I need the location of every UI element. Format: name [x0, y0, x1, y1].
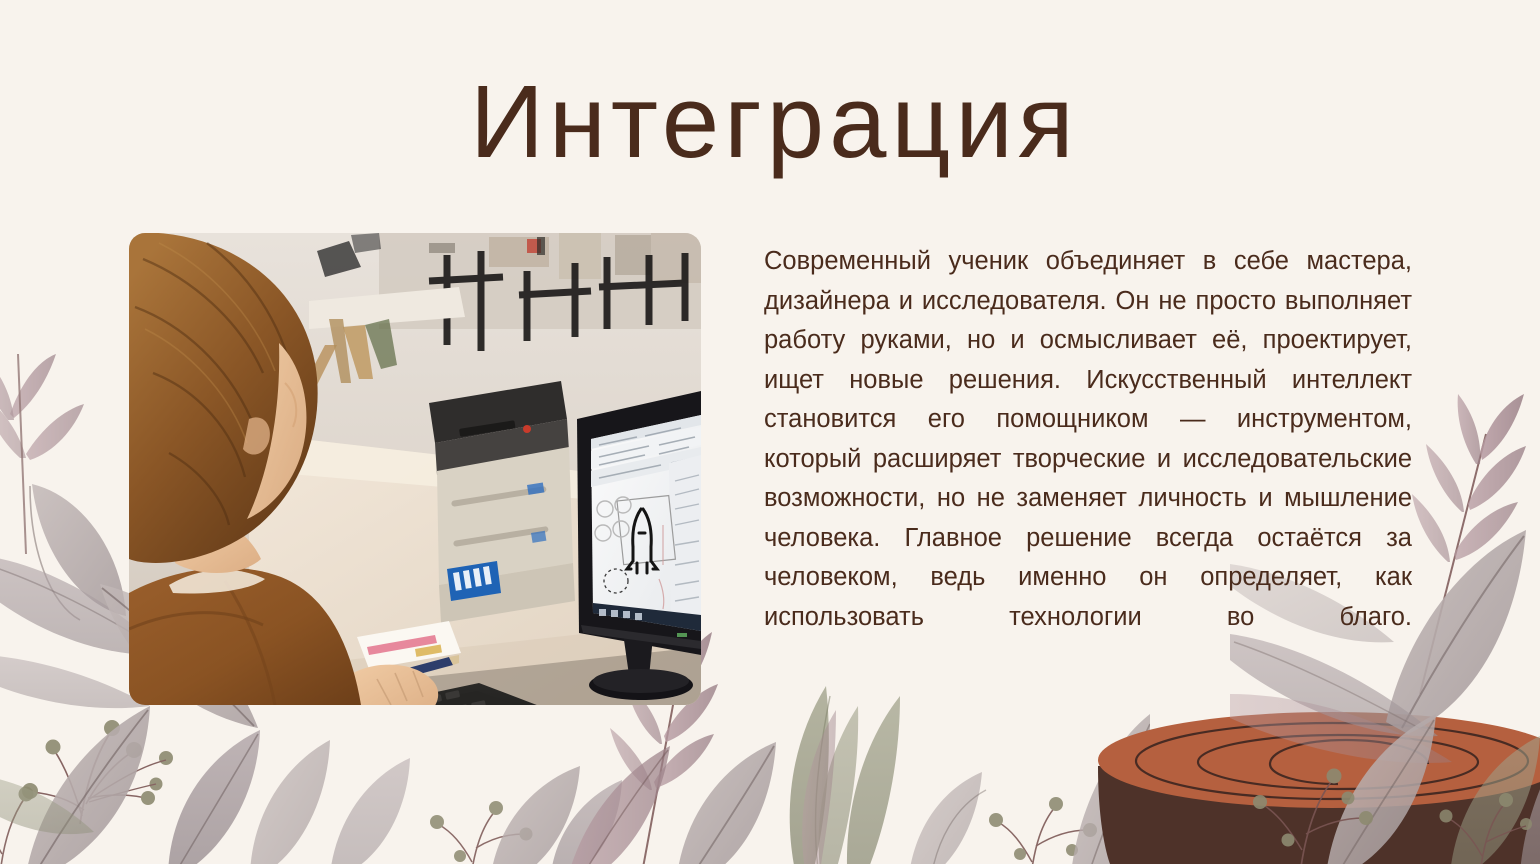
slide-photo [129, 233, 701, 705]
slide-title: Интеграция [470, 66, 1079, 177]
leaf-shape [330, 758, 410, 864]
slide-canvas: Интеграция [0, 0, 1540, 864]
leaf-shape [168, 730, 260, 864]
berry-spray [0, 787, 34, 864]
leaf-shape [0, 774, 94, 834]
mauve-sprig [1412, 394, 1526, 694]
tree-stump-illustration [1070, 704, 1540, 864]
leaf-shape [250, 740, 330, 864]
leaf-shape [32, 484, 126, 616]
olive-grass [790, 686, 900, 864]
slide-body-text: Современный ученик объединяет в себе мас… [764, 242, 1412, 677]
leaf-shape [26, 706, 150, 864]
leaf-shape [0, 654, 150, 708]
printer [429, 381, 575, 623]
photo-illustration [129, 233, 701, 705]
leaf-cluster-left-upper [0, 354, 84, 554]
berry-spray [22, 720, 173, 824]
